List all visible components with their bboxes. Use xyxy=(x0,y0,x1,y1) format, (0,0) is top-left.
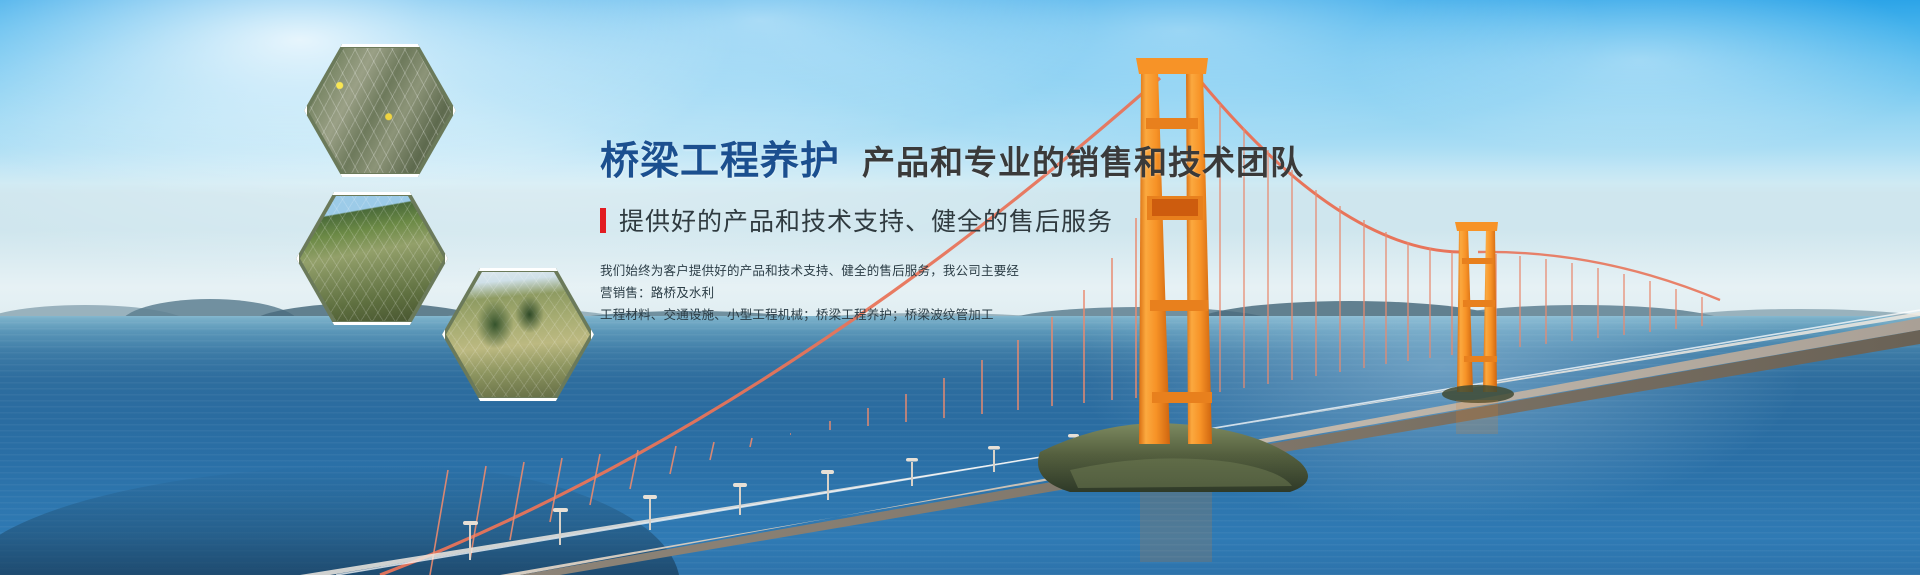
hex-photo-scrub-slope[interactable] xyxy=(442,268,594,401)
subline-text: 提供好的产品和技术支持、健全的售后服务 xyxy=(619,202,1113,238)
subline: 提供好的产品和技术支持、健全的售后服务 xyxy=(600,202,1360,238)
body-copy: 我们始终为客户提供好的产品和技术支持、健全的售后服务，我公司主要经营销售：路桥及… xyxy=(600,260,1030,326)
headline-sub: 产品和专业的销售和技术团队 xyxy=(862,136,1304,184)
hero-banner: 桥梁工程养护 产品和专业的销售和技术团队 提供好的产品和技术支持、健全的售后服务… xyxy=(0,0,1920,575)
body-line-2: 工程材料、交通设施、小型工程机械；桥梁工程养护；桥梁波纹管加工 xyxy=(600,304,1030,326)
banner-copy: 桥梁工程养护 产品和专业的销售和技术团队 提供好的产品和技术支持、健全的售后服务… xyxy=(600,130,1360,326)
hex-photo-green-hillside[interactable] xyxy=(296,192,448,325)
hex-frame xyxy=(304,44,456,177)
hex-frame xyxy=(296,192,448,325)
hexagon-photo-cluster xyxy=(296,44,606,414)
red-accent-bar xyxy=(600,208,606,233)
headline: 桥梁工程养护 产品和专业的销售和技术团队 xyxy=(600,130,1360,186)
headline-main: 桥梁工程养护 xyxy=(600,130,840,186)
hex-photo-rock-slope[interactable] xyxy=(304,44,456,177)
body-line-1: 我们始终为客户提供好的产品和技术支持、健全的售后服务，我公司主要经营销售：路桥及… xyxy=(600,260,1030,304)
hex-frame xyxy=(442,268,594,401)
